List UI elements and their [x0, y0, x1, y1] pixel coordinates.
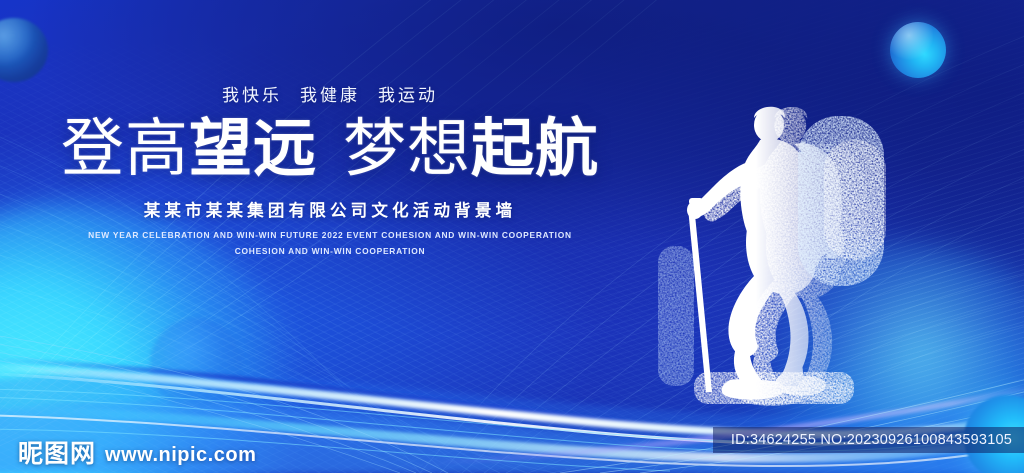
image-id-label: ID:34624255 NO:20230926100843593105: [713, 427, 1024, 453]
tagline-item-1: 我快乐: [222, 86, 282, 106]
hiker-particle-silhouette: [648, 96, 888, 406]
headline-copy-block: 我快乐我健康我运动 登高望远梦想起航 某某市某某集团有限公司文化活动背景墙 NE…: [0, 86, 660, 256]
watermark-site-url: www.nipic.com: [105, 445, 256, 467]
watermark: 昵图网 www.nipic.com: [18, 442, 256, 467]
headline-part1-heavy: 望远: [189, 114, 317, 184]
sphere-icon-top-right: [890, 22, 946, 78]
tagline-item-3: 我运动: [378, 86, 438, 106]
watermark-site-name: 昵图网: [18, 442, 96, 467]
english-subtitle-line-1: NEW YEAR CELEBRATION AND WIN-WIN FUTURE …: [0, 230, 660, 240]
headline-part2-heavy: 起航: [471, 114, 599, 184]
english-subtitle-line-2: COHESION AND WIN-WIN COOPERATION: [0, 246, 660, 256]
headline-part2-light: 梦想: [343, 114, 471, 184]
subtitle: 某某市某某集团有限公司文化活动背景墙: [0, 197, 660, 221]
tagline: 我快乐我健康我运动: [0, 86, 660, 106]
headline-part1-light: 登高: [61, 114, 189, 184]
banner-canvas: 我快乐我健康我运动 登高望远梦想起航 某某市某某集团有限公司文化活动背景墙 NE…: [0, 0, 1024, 473]
page-title: 登高望远梦想起航: [0, 117, 660, 183]
tagline-item-2: 我健康: [300, 86, 360, 106]
